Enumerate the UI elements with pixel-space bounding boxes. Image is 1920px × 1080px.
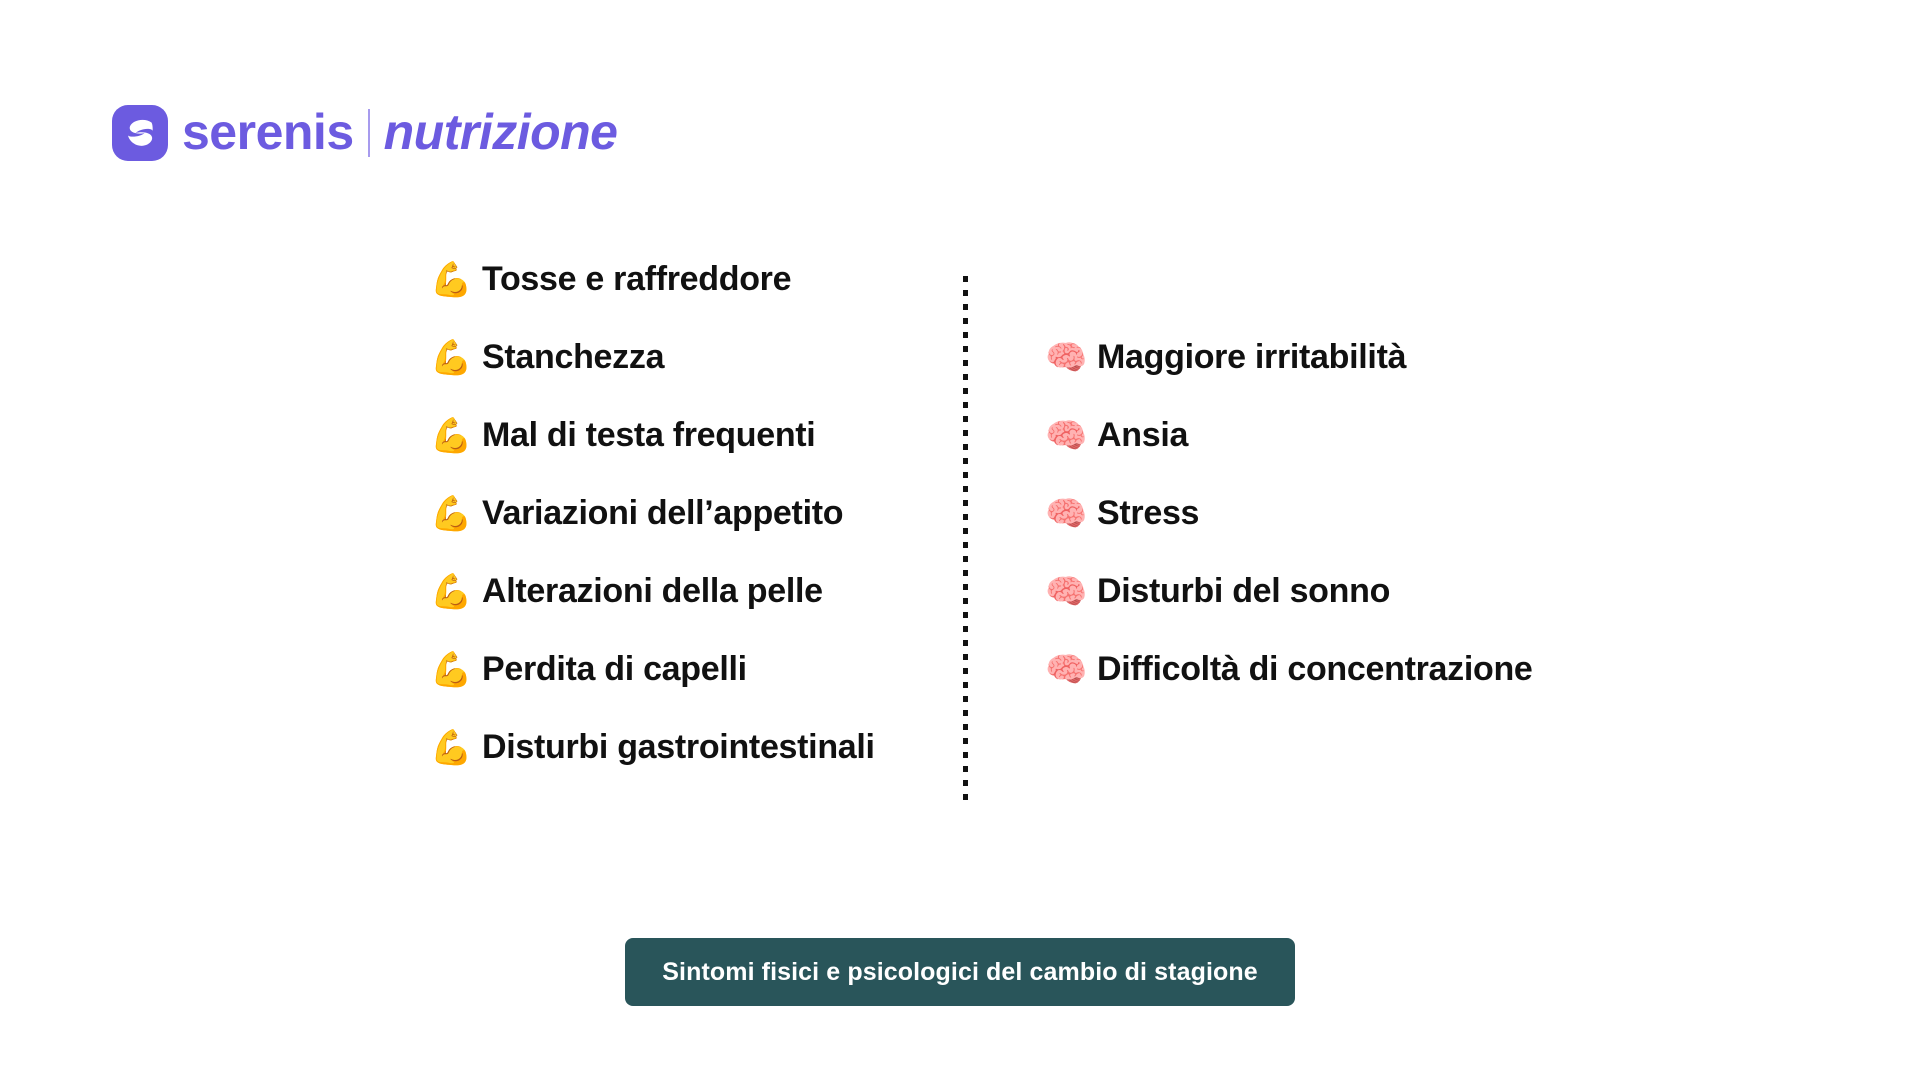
brand-name: serenis xyxy=(182,107,354,159)
list-item-label: Disturbi del sonno xyxy=(1097,573,1390,610)
list-item-label: Ansia xyxy=(1097,417,1188,454)
caption-banner: Sintomi fisici e psicologici del cambio … xyxy=(625,938,1295,1006)
caption-text: Sintomi fisici e psicologici del cambio … xyxy=(662,960,1258,985)
flexed-biceps-emoji: 💪 xyxy=(430,497,470,531)
list-item: 💪 Disturbi gastrointestinali xyxy=(430,726,875,770)
list-item-label: Alterazioni della pelle xyxy=(482,573,823,610)
list-item-label: Maggiore irritabilità xyxy=(1097,339,1406,376)
brain-emoji: 🧠 xyxy=(1045,497,1085,531)
list-item-label: Variazioni dell’appetito xyxy=(482,495,843,532)
symptom-columns: 💪 Tosse e raffreddore 💪 Stanchezza 💪 Mal… xyxy=(0,258,1920,818)
flexed-biceps-emoji: 💪 xyxy=(430,419,470,453)
list-item-label: Disturbi gastrointestinali xyxy=(482,729,875,766)
slide-canvas: serenis nutrizione 💪 Tosse e raffreddore… xyxy=(0,0,1920,1080)
list-item-label: Stanchezza xyxy=(482,339,664,376)
list-item: 🧠 Maggiore irritabilità xyxy=(1045,336,1533,380)
list-item: 💪 Tosse e raffreddore xyxy=(430,258,875,302)
list-item-label: Stress xyxy=(1097,495,1199,532)
list-item-label: Difficoltà di concentrazione xyxy=(1097,651,1533,688)
brain-emoji: 🧠 xyxy=(1045,341,1085,375)
psychological-symptoms-column: 🧠 Maggiore irritabilità 🧠 Ansia 🧠 Stress… xyxy=(1045,336,1533,692)
flexed-biceps-emoji: 💪 xyxy=(430,653,470,687)
list-item: 🧠 Stress xyxy=(1045,492,1533,536)
list-item: 💪 Alterazioni della pelle xyxy=(430,570,875,614)
list-item: 💪 Mal di testa frequenti xyxy=(430,414,875,458)
brain-emoji: 🧠 xyxy=(1045,653,1085,687)
brain-emoji: 🧠 xyxy=(1045,575,1085,609)
brand-wordmark: serenis nutrizione xyxy=(182,107,618,159)
flexed-biceps-emoji: 💪 xyxy=(430,731,470,765)
list-item-label: Perdita di capelli xyxy=(482,651,747,688)
brand-logo[interactable]: serenis nutrizione xyxy=(112,102,618,164)
list-item: 💪 Stanchezza xyxy=(430,336,875,380)
brand-separator xyxy=(368,109,370,157)
flexed-biceps-emoji: 💪 xyxy=(430,263,470,297)
list-item-label: Tosse e raffreddore xyxy=(482,261,791,298)
list-item: 🧠 Difficoltà di concentrazione xyxy=(1045,648,1533,692)
flexed-biceps-emoji: 💪 xyxy=(430,341,470,375)
list-item: 💪 Perdita di capelli xyxy=(430,648,875,692)
flexed-biceps-emoji: 💪 xyxy=(430,575,470,609)
list-item: 🧠 Disturbi del sonno xyxy=(1045,570,1533,614)
brain-emoji: 🧠 xyxy=(1045,419,1085,453)
list-item-label: Mal di testa frequenti xyxy=(482,417,815,454)
list-item: 💪 Variazioni dell’appetito xyxy=(430,492,875,536)
physical-symptoms-column: 💪 Tosse e raffreddore 💪 Stanchezza 💪 Mal… xyxy=(430,258,875,770)
list-item: 🧠 Ansia xyxy=(1045,414,1533,458)
brand-product: nutrizione xyxy=(384,107,618,159)
serenis-s-logo-icon xyxy=(112,105,168,161)
